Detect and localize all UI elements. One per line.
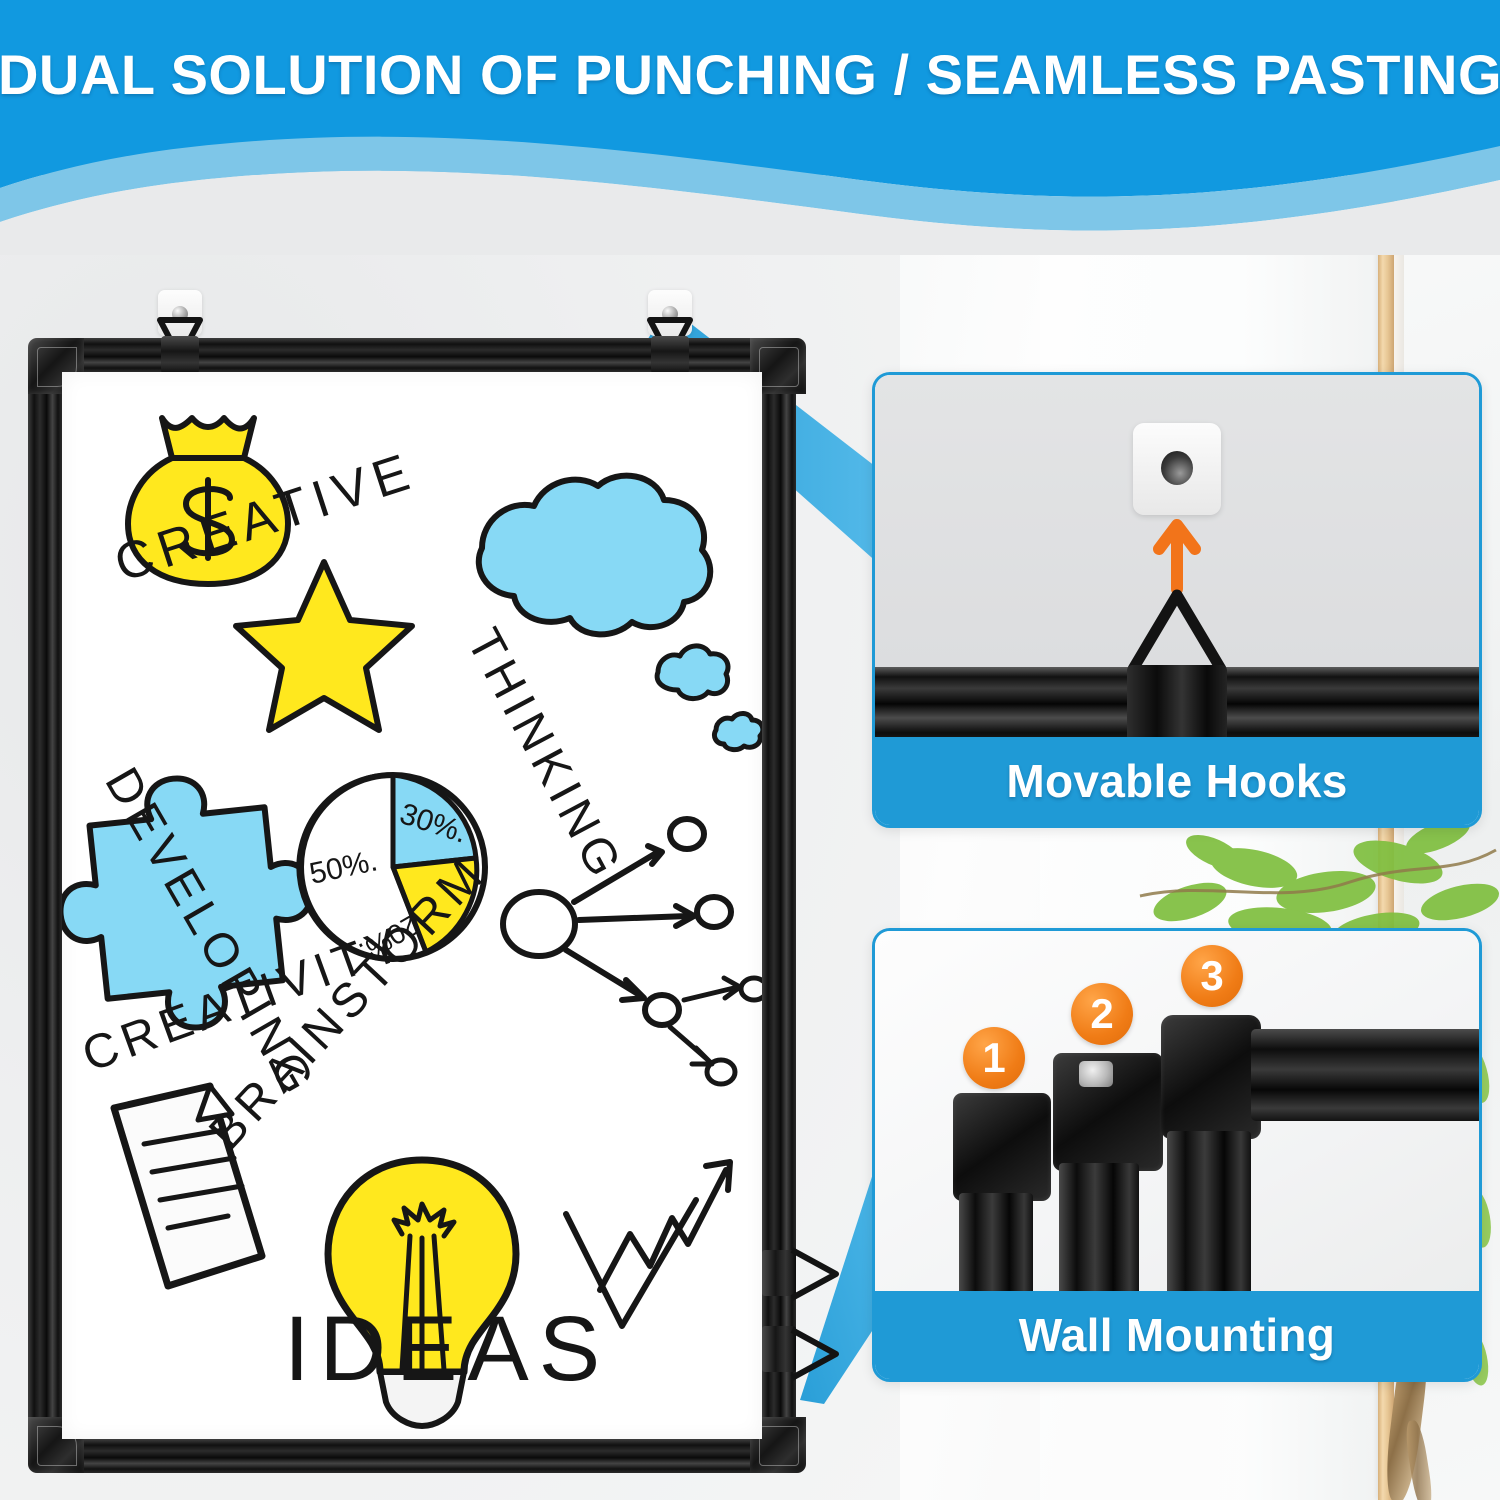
panel-label-movable-hooks: Movable Hooks bbox=[875, 737, 1479, 825]
page-title: DUAL SOLUTION OF PUNCHING / SEAMLESS PAS… bbox=[0, 42, 1500, 107]
wave-divider bbox=[0, 110, 1500, 255]
product-infographic: DUAL SOLUTION OF PUNCHING / SEAMLESS PAS… bbox=[0, 0, 1500, 1500]
small-cloud-icon bbox=[657, 646, 728, 699]
panel-wall-mounting[interactable]: 1 2 3 Wall Mounting bbox=[872, 928, 1482, 1382]
hook-slider-left[interactable] bbox=[161, 336, 199, 374]
word-ideas: IDEAS bbox=[284, 1298, 610, 1400]
whiteboard-doodles: CREATIVE THINKING DEVELOPING CREATIVITY … bbox=[62, 372, 762, 1439]
frame-bar-left bbox=[28, 360, 62, 1451]
hook-arrow-and-ring bbox=[1121, 511, 1233, 683]
hook-hole-icon bbox=[1161, 451, 1193, 485]
step-badge-3: 3 bbox=[1181, 945, 1243, 1007]
cloud-icon bbox=[479, 476, 710, 635]
panel-movable-hooks[interactable]: Movable Hooks bbox=[872, 372, 1482, 828]
panel-label-wall-mounting: Wall Mounting bbox=[875, 1291, 1479, 1379]
wall-hook-icon bbox=[1133, 423, 1221, 515]
tiny-cloud-icon bbox=[714, 713, 762, 749]
whiteboard[interactable]: CREATIVE THINKING DEVELOPING CREATIVITY … bbox=[28, 338, 818, 1473]
frame-bar-bottom bbox=[50, 1439, 796, 1473]
frame-top-rail bbox=[1251, 1029, 1482, 1121]
step-badge-1: 1 bbox=[963, 1027, 1025, 1089]
side-hanging-rings bbox=[790, 1244, 864, 1392]
mounting-screw-icon bbox=[1079, 1061, 1113, 1087]
node-diagram-icon bbox=[503, 819, 762, 1084]
step-badge-2: 2 bbox=[1071, 983, 1133, 1045]
hook-slider-right[interactable] bbox=[651, 336, 689, 374]
corner-knuckle-1 bbox=[953, 1093, 1051, 1201]
corner-knuckle-3 bbox=[1161, 1015, 1261, 1139]
star-icon bbox=[236, 562, 412, 730]
whiteboard-surface[interactable]: CREATIVE THINKING DEVELOPING CREATIVITY … bbox=[62, 372, 762, 1439]
